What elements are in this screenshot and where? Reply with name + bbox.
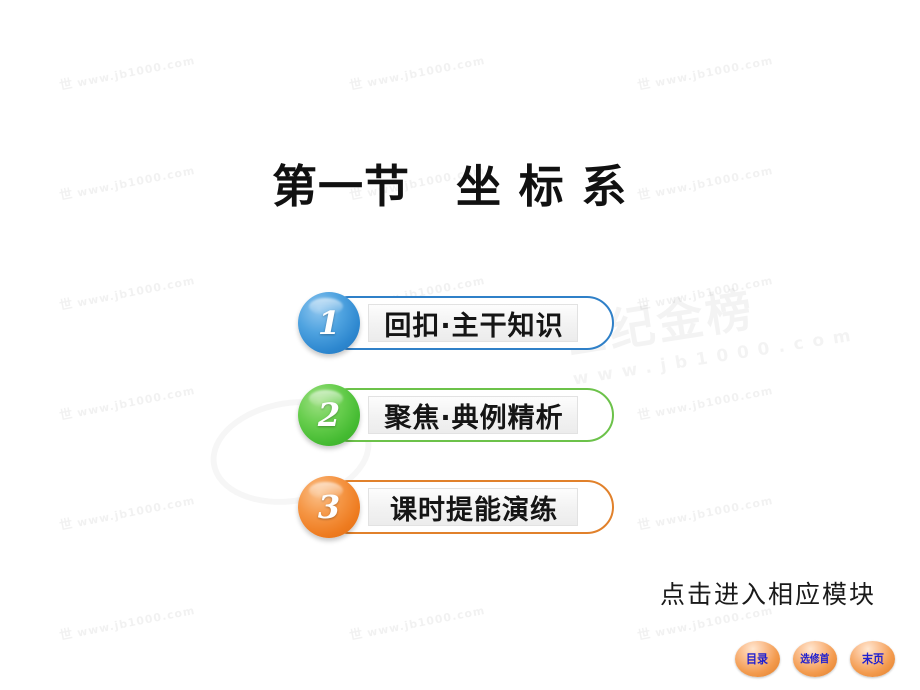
- watermark-tile: 世www.jb1000.com: [347, 49, 486, 94]
- watermark-label: www.jb1000.com: [366, 54, 486, 90]
- page-title: 第一节 坐 标 系: [272, 150, 627, 215]
- module-row-2[interactable]: 聚焦·典例精析 2: [298, 384, 618, 446]
- watermark-label: www.jb1000.com: [654, 54, 774, 90]
- watermark-tile: 世www.jb1000.com: [57, 269, 196, 314]
- watermark-label: www.jb1000.com: [654, 384, 774, 420]
- watermark-mark: 世: [635, 293, 652, 314]
- watermark-mark: 世: [347, 73, 364, 94]
- watermark-tile: 世www.jb1000.com: [57, 49, 196, 94]
- nav-button-elective-home-label: 选修首: [801, 654, 830, 665]
- watermark-mark: 世: [57, 183, 74, 204]
- watermark-mark: 世: [57, 403, 74, 424]
- watermark-mark: 世: [635, 403, 652, 424]
- watermark-tile: 世www.jb1000.com: [57, 159, 196, 204]
- watermark-label: www.jb1000.com: [76, 494, 196, 530]
- watermark-tile: 世www.jb1000.com: [635, 379, 774, 424]
- watermark-tile: 世www.jb1000.com: [347, 599, 486, 644]
- watermark-label: www.jb1000.com: [76, 384, 196, 420]
- module-badge-1[interactable]: 1: [298, 292, 360, 354]
- watermark-label: www.jb1000.com: [76, 604, 196, 640]
- watermark-tile: 世www.jb1000.com: [635, 49, 774, 94]
- watermark-tile: 世www.jb1000.com: [57, 599, 196, 644]
- module-badge-2[interactable]: 2: [298, 384, 360, 446]
- slide-canvas: 世www.jb1000.com 世www.jb1000.com 世www.jb1…: [0, 0, 920, 690]
- nav-button-last-page[interactable]: 末页: [850, 641, 895, 677]
- watermark-label: www.jb1000.com: [654, 164, 774, 200]
- watermark-tile: 世www.jb1000.com: [635, 159, 774, 204]
- watermark-mark: 世: [57, 293, 74, 314]
- watermark-mark: 世: [635, 623, 652, 644]
- watermark-label: www.jb1000.com: [366, 604, 486, 640]
- nav-button-contents[interactable]: 目录: [735, 641, 780, 677]
- watermark-tile: 世www.jb1000.com: [57, 379, 196, 424]
- watermark-label: www.jb1000.com: [654, 274, 774, 310]
- watermark-mark: 世: [635, 73, 652, 94]
- nav-button-contents-label: 目录: [746, 653, 768, 665]
- watermark-label: www.jb1000.com: [76, 54, 196, 90]
- watermark-label: www.jb1000.com: [654, 494, 774, 530]
- module-badge-number-2: 2: [298, 384, 360, 446]
- module-label-1: 回扣·主干知识: [370, 302, 578, 344]
- module-badge-number-3: 3: [298, 476, 360, 538]
- module-label-3: 课时提能演练: [370, 486, 578, 528]
- module-row-1[interactable]: 回扣·主干知识 1: [298, 292, 618, 354]
- module-badge-3[interactable]: 3: [298, 476, 360, 538]
- hint-text: 点击进入相应模块: [660, 575, 876, 611]
- watermark-mark: 世: [347, 623, 364, 644]
- module-label-2: 聚焦·典例精析: [370, 394, 578, 436]
- watermark-tile: 世www.jb1000.com: [635, 269, 774, 314]
- watermark-mark: 世: [57, 513, 74, 534]
- watermark-mark: 世: [57, 623, 74, 644]
- nav-button-bar: 目录 选修首 末页: [735, 641, 895, 679]
- watermark-mark: 世: [635, 513, 652, 534]
- watermark-label: www.jb1000.com: [76, 274, 196, 310]
- module-badge-number-1: 1: [298, 292, 360, 354]
- nav-button-last-page-label: 末页: [862, 653, 884, 665]
- watermark-tile: 世www.jb1000.com: [635, 489, 774, 534]
- watermark-tile: 世www.jb1000.com: [57, 489, 196, 534]
- watermark-label: www.jb1000.com: [76, 164, 196, 200]
- watermark-mark: 世: [635, 183, 652, 204]
- watermark-mark: 世: [57, 73, 74, 94]
- module-row-3[interactable]: 课时提能演练 3: [298, 476, 618, 538]
- nav-button-elective-home[interactable]: 选修首: [793, 641, 838, 677]
